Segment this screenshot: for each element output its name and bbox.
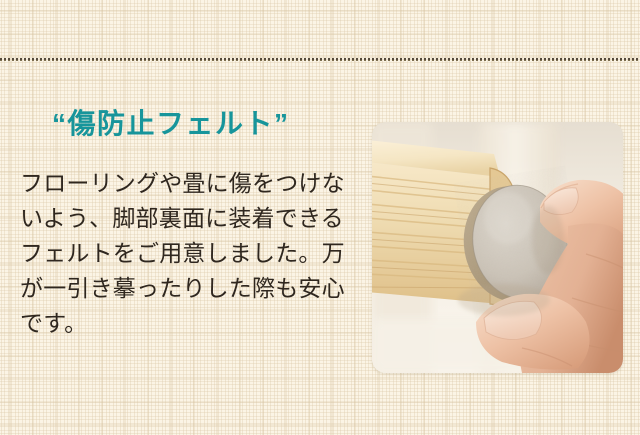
felt-pad-photo-illustration [372, 122, 623, 373]
dotted-divider-top [0, 58, 640, 61]
text-column: “傷防止フェルト” フローリングや畳に傷をつけないよう、脚部裏面に装着できるフェ… [20, 104, 360, 341]
promo-panel: “傷防止フェルト” フローリングや畳に傷をつけないよう、脚部裏面に装着できるフェ… [0, 0, 640, 435]
description-text: フローリングや畳に傷をつけないよう、脚部裏面に装着できるフェルトをご用意しました… [20, 144, 350, 341]
product-photo [372, 122, 623, 373]
page-title: “傷防止フェルト” [20, 104, 360, 144]
